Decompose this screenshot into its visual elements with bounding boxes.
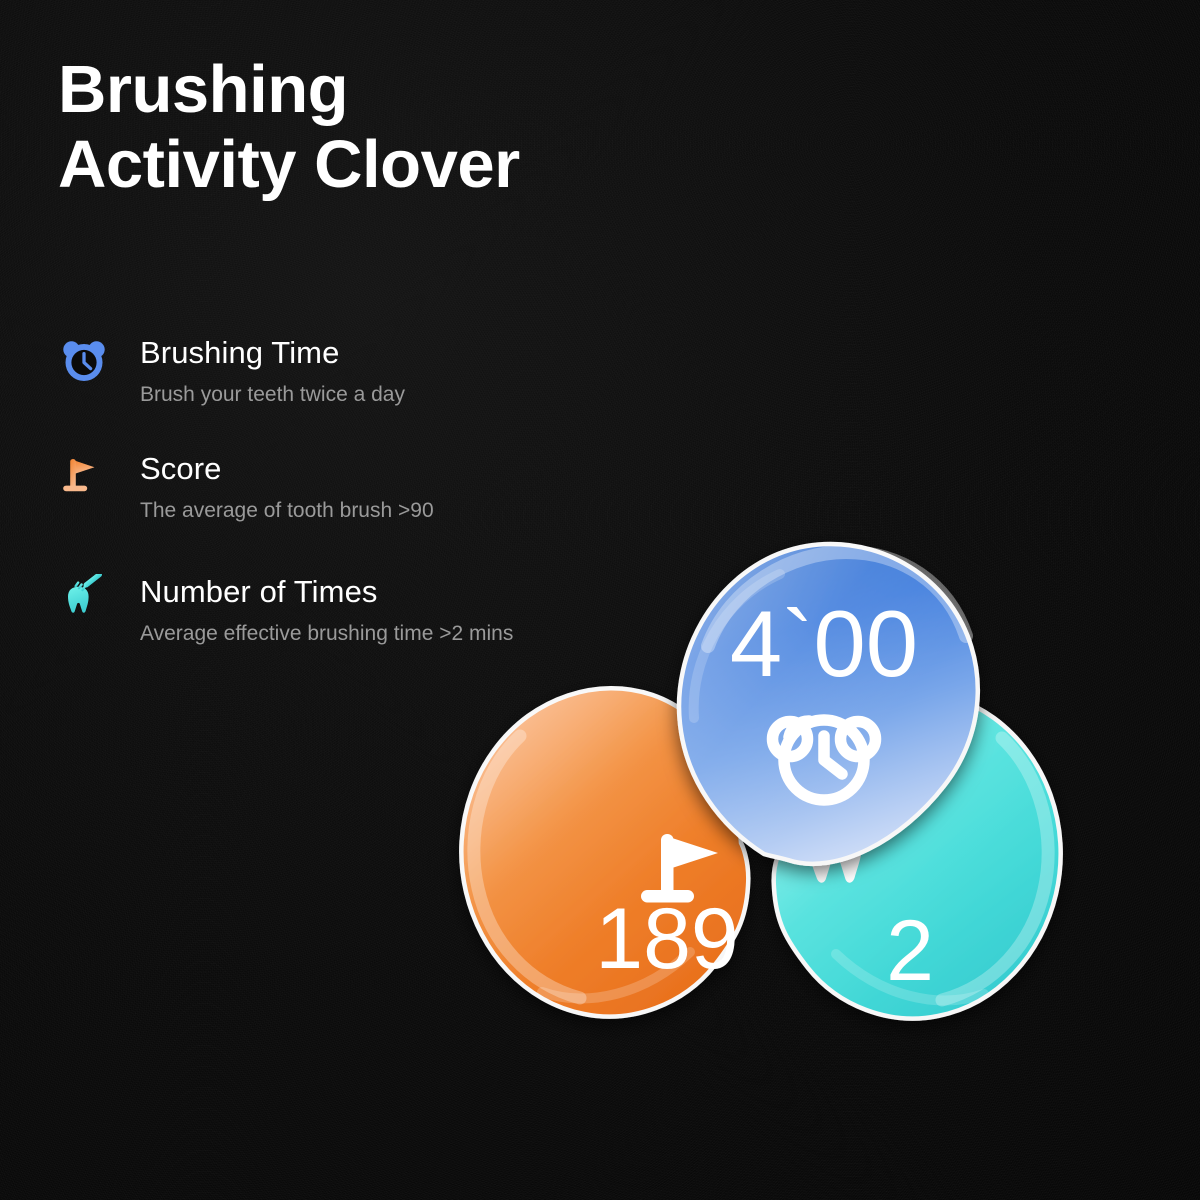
page-title-line-1: Brushing	[58, 52, 758, 127]
number-of-times-value: 2	[886, 903, 934, 999]
legend-item-description: Brush your teeth twice a day	[140, 380, 560, 410]
brushing-time-value: 4`00	[730, 591, 918, 696]
page-title: Brushing Activity Clover	[58, 52, 758, 202]
page-title-line-2: Activity Clover	[58, 127, 758, 202]
toothbrush-icon	[60, 574, 108, 622]
legend-item-label: Brushing Time	[140, 335, 616, 371]
clover-chart: 189 2	[432, 468, 1152, 1168]
alarm-clock-icon	[60, 337, 108, 385]
flag-icon	[60, 453, 108, 501]
score-value: 189	[595, 891, 739, 987]
legend-item-brushing-time[interactable]: Brushing Time Brush your teeth twice a d…	[56, 335, 616, 409]
brushing-activity-clover-page: Brushing Activity Clover Brushing Time B…	[0, 0, 1200, 1200]
